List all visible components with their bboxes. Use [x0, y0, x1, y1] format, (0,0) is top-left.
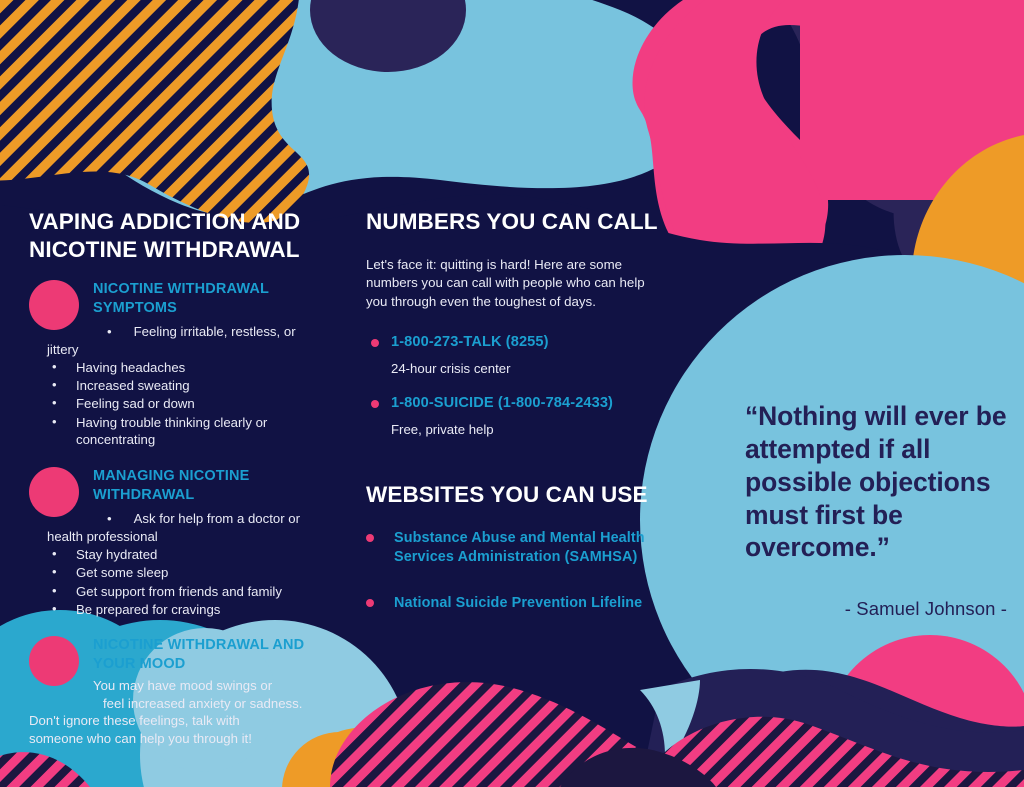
phone-number-list: 1-800-273-TALK (8255) 24-hour crisis cen… — [366, 333, 658, 437]
mood-line: feel increased anxiety or sadness. — [29, 695, 329, 713]
quote-text: “Nothing will ever be attempted if all p… — [745, 400, 1007, 564]
quote-panel: “Nothing will ever be attempted if all p… — [745, 400, 1007, 620]
list-item: Be prepared for cravings — [47, 601, 329, 618]
list-item: Get some sleep — [47, 564, 329, 581]
numbers-title: NUMBERS YOU CAN CALL — [366, 208, 658, 236]
mood-line: You may have mood swings or — [29, 677, 329, 695]
list-item: Get support from friends and family — [47, 583, 329, 600]
list-item: Having headaches — [47, 359, 329, 376]
section-mood: NICOTINE WITHDRAWAL AND YOUR MOOD You ma… — [29, 636, 329, 747]
brochure-canvas: VAPING ADDICTION AND NICOTINE WITHDRAWAL… — [0, 0, 1024, 787]
list-item: Having trouble thinking clearly or conce… — [47, 414, 329, 449]
section-managing-withdrawal: MANAGING NICOTINE WITHDRAWAL • Ask for h… — [29, 467, 329, 618]
middle-column: NUMBERS YOU CAN CALL Let's face it: quit… — [366, 208, 658, 640]
website-link[interactable]: Substance Abuse and Mental Health Servic… — [394, 529, 658, 567]
list-item: National Suicide Prevention Lifeline — [366, 594, 658, 613]
phone-note: Free, private help — [391, 422, 658, 437]
pink-circle-icon — [29, 636, 79, 686]
website-link[interactable]: National Suicide Prevention Lifeline — [394, 594, 658, 613]
quote-author: - Samuel Johnson - — [745, 598, 1007, 620]
page-title: VAPING ADDICTION AND NICOTINE WITHDRAWAL — [29, 208, 329, 264]
website-list: Substance Abuse and Mental Health Servic… — [366, 529, 658, 613]
left-column: VAPING ADDICTION AND NICOTINE WITHDRAWAL… — [29, 208, 329, 757]
list-item: 1-800-273-TALK (8255) 24-hour crisis cen… — [366, 333, 658, 376]
list-item: Increased sweating — [47, 377, 329, 394]
websites-title: WEBSITES YOU CAN USE — [366, 481, 658, 509]
list-item: • Ask for help from a doctor or health p… — [47, 510, 329, 545]
list-item: Feeling sad or down — [47, 395, 329, 412]
list-item: Stay hydrated — [47, 546, 329, 563]
managing-list: • Ask for help from a doctor or health p… — [29, 510, 329, 618]
section-withdrawal-symptoms: NICOTINE WITHDRAWAL SYMPTOMS • Feeling i… — [29, 280, 329, 448]
list-item: 1-800-SUICIDE (1-800-784-2433) Free, pri… — [366, 394, 658, 437]
numbers-intro: Let's face it: quitting is hard! Here ar… — [366, 256, 658, 311]
phone-note: 24-hour crisis center — [391, 361, 658, 376]
phone-link[interactable]: 1-800-SUICIDE (1-800-784-2433) — [391, 394, 658, 413]
symptoms-list: • Feeling irritable, restless, or jitter… — [29, 323, 329, 448]
mood-paragraph: You may have mood swings or feel increas… — [29, 677, 329, 747]
mood-line: someone who can help you through it! — [29, 730, 329, 748]
mood-line: Don't ignore these feelings, talk with — [29, 712, 329, 730]
list-item: Substance Abuse and Mental Health Servic… — [366, 529, 658, 567]
phone-link[interactable]: 1-800-273-TALK (8255) — [391, 333, 658, 352]
list-item: • Feeling irritable, restless, or jitter… — [47, 323, 329, 358]
